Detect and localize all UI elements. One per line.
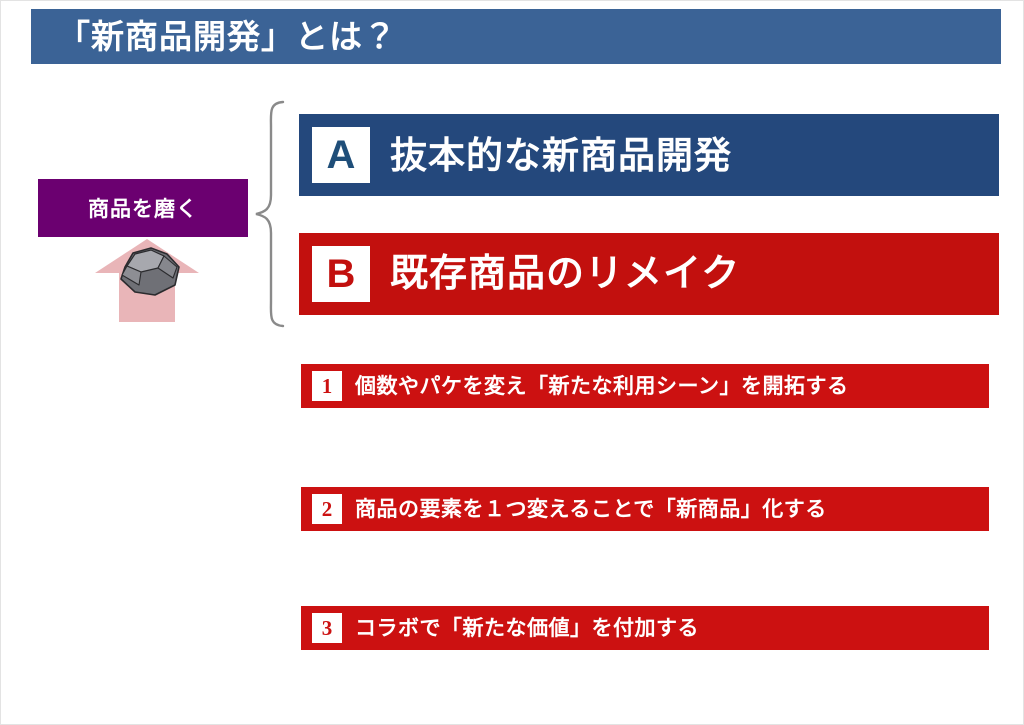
category-badge-b: B [312, 246, 370, 302]
category-badge-a: A [312, 127, 370, 183]
item-number-badge-2: 2 [312, 494, 342, 524]
slide-canvas: 「新商品開発」とは？ 商品を磨く A 抜本的な新商品開発 B 既存商品のリメイク… [0, 0, 1024, 725]
left-label-text: 商品を磨く [88, 193, 198, 223]
item-number-badge-1: 1 [312, 371, 342, 401]
left-label-box: 商品を磨く [38, 179, 248, 237]
category-label-b: 既存商品のリメイク [390, 255, 740, 293]
curly-brace-icon [253, 99, 287, 329]
page-title: 「新商品開発」とは？ [57, 20, 397, 53]
item-number-badge-3: 3 [312, 613, 342, 643]
list-item[interactable]: 1 個数やパケを変え「新たな利用シーン」を開拓する [301, 364, 989, 408]
list-item[interactable]: 2 商品の要素を１つ変えることで「新商品」化する [301, 487, 989, 531]
item-label-2: 商品の要素を１つ変えることで「新商品」化する [355, 499, 827, 520]
item-label-3: コラボで「新たな価値」を付加する [355, 618, 699, 639]
list-item[interactable]: 3 コラボで「新たな価値」を付加する [301, 606, 989, 650]
polish-product-illustration [93, 237, 201, 322]
category-row-b[interactable]: B 既存商品のリメイク [299, 233, 999, 315]
slide-title-bar: 「新商品開発」とは？ [31, 9, 1001, 64]
rock-icon [111, 245, 183, 297]
category-row-a[interactable]: A 抜本的な新商品開発 [299, 114, 999, 196]
item-label-1: 個数やパケを変え「新たな利用シーン」を開拓する [355, 376, 848, 397]
category-label-a: 抜本的な新商品開発 [390, 137, 732, 174]
